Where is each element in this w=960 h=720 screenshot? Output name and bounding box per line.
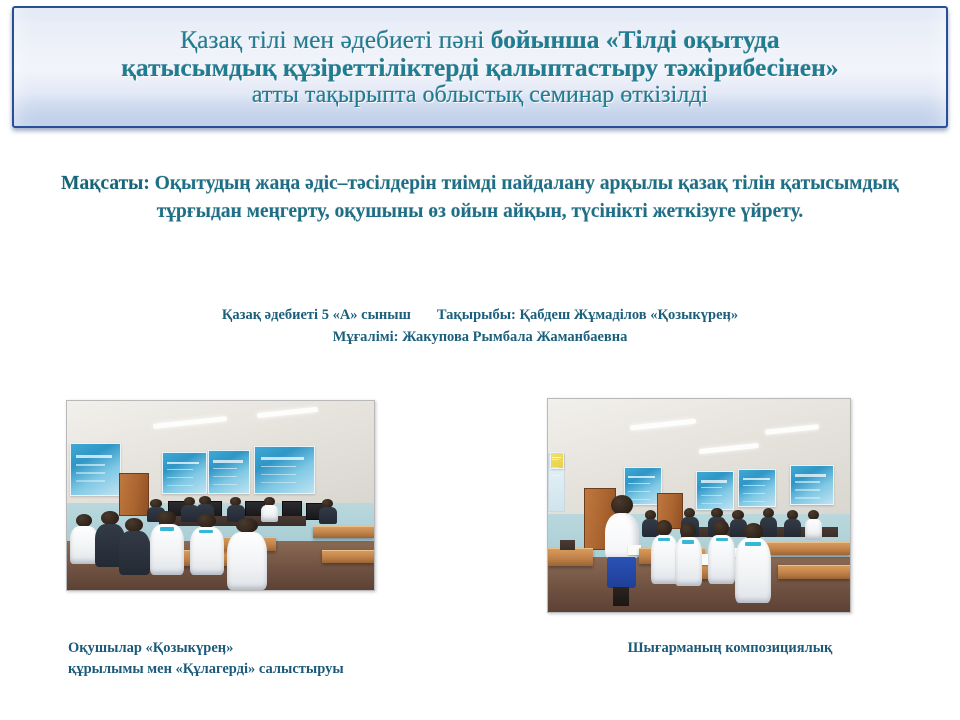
teacher-desk: [548, 548, 593, 566]
side-desk: [322, 550, 374, 562]
lesson-meta: Қазақ әдебиеті 5 «А» сынышТақырыбы: Қабд…: [60, 304, 900, 349]
lesson-meta-row-teacher: Мұғалімі: Жакупова Рымбала Жаманбаевна: [60, 326, 900, 348]
side-desk: [759, 542, 850, 556]
teacher-skirt: [607, 557, 636, 588]
classroom-photo-left: [66, 400, 375, 591]
side-desk: [778, 565, 850, 579]
side-desk: [313, 526, 374, 538]
wall-poster: [254, 446, 314, 493]
lesson-subject-class: Қазақ әдебиеті 5 «А» сыныш: [222, 307, 411, 323]
header-banner: Қазақ тілі мен әдебиеті пәні бойынша «Ті…: [12, 6, 948, 128]
banner-title-line-1-normal: Қазақ тілі мен әдебиеті пәні: [180, 25, 491, 54]
lesson-topic-label: Тақырыбы:: [437, 307, 516, 323]
photo-right-scene: [548, 399, 850, 612]
student-figure: [190, 514, 224, 574]
lesson-teacher-value: Жакупова Рымбала Жаманбаевна: [398, 329, 627, 345]
photo-left-scene: [67, 401, 374, 590]
wall-poster: [696, 471, 734, 509]
student-figure: [70, 514, 98, 563]
student-figure: [150, 511, 184, 575]
student-figure: [735, 523, 771, 604]
lesson-goal-paragraph: Мақсаты: Оқытудың жаңа әдіс–тәсілдерін т…: [52, 170, 908, 225]
banner-title-line-3: атты тақырыпта облыстық семинар өткізілд…: [252, 83, 708, 107]
wall-poster: [70, 443, 121, 496]
wall-poster: [790, 465, 834, 505]
wall-poster: [738, 469, 776, 507]
photo-left-caption: Оқушылар «Қозыкүреӊ» құрылымы мен «Құлаг…: [68, 638, 498, 679]
teacher-legs: [613, 587, 630, 606]
student-figure: [651, 520, 678, 584]
lesson-goal-text: Оқытудың жаңа әдіс–тәсілдерін тиімді пай…: [150, 173, 899, 222]
student-figure: [675, 523, 702, 587]
wall-poster: [208, 450, 250, 494]
student-figure: [805, 510, 823, 540]
student-figure: [119, 518, 150, 575]
wall-poster: [162, 452, 207, 494]
teacher-head: [611, 495, 633, 515]
student-figure: [227, 518, 267, 590]
lesson-meta-row-subject: Қазақ әдебиеті 5 «А» сынышТақырыбы: Қабд…: [60, 304, 900, 326]
student-figure: [708, 520, 735, 584]
student-figure: [784, 510, 802, 538]
equipment: [560, 540, 575, 551]
lesson-teacher-label: Мұғалімі:: [333, 329, 399, 345]
teacher-figure: [605, 495, 638, 606]
student-figure: [319, 499, 337, 524]
lesson-topic-value: Қабдеш Жұмаділов «Қозыкүреӊ»: [516, 307, 738, 323]
photo-right-caption: Шығарманың композициялық: [560, 638, 900, 659]
lesson-goal-label: Мақсаты:: [61, 173, 150, 194]
banner-title-line-2: қатысымдық құзіреттіліктерді қалыптастыр…: [121, 55, 838, 81]
classroom-photo-right: [547, 398, 851, 613]
wall-poster: [550, 452, 564, 469]
banner-title-line-1-bold: бойынша «Тілді оқытуда: [491, 25, 780, 54]
banner-title-line-1: Қазақ тілі мен әдебиеті пәні бойынша «Ті…: [180, 27, 780, 53]
